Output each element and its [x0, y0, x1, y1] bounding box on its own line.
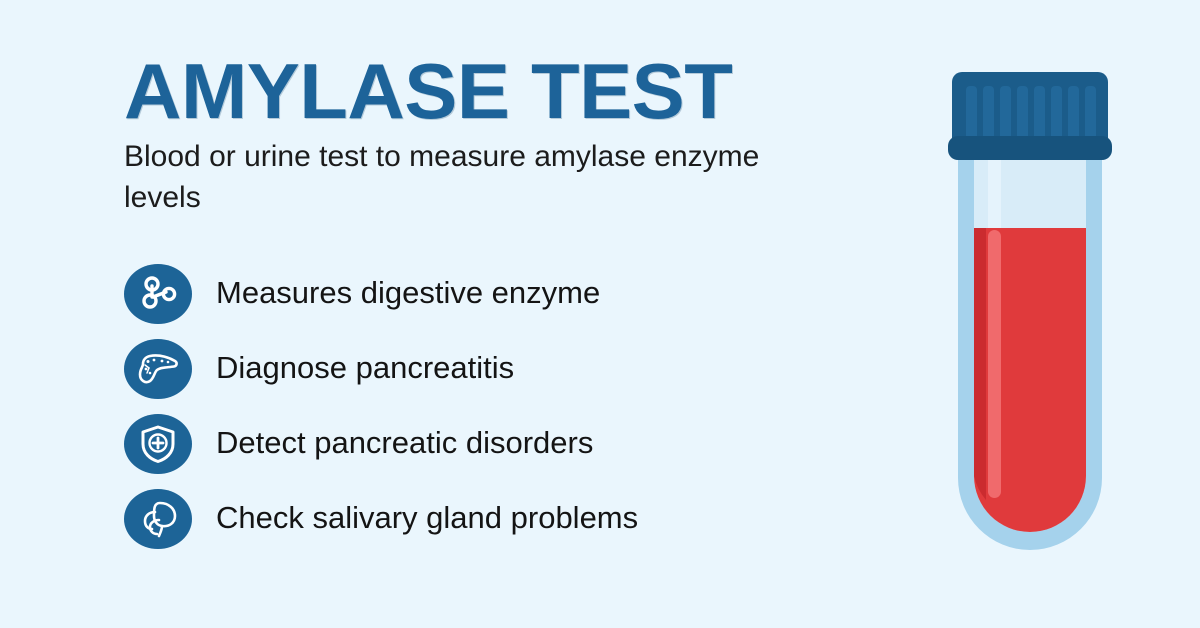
- list-item-label: Measures digestive enzyme: [216, 276, 600, 310]
- shield-plus-icon: [124, 414, 192, 474]
- infographic-poster: AMYLASE TEST Blood or urine test to meas…: [0, 0, 1200, 628]
- tube-blood-shadow: [974, 228, 986, 500]
- list-item: Diagnose pancreatitis: [124, 331, 884, 406]
- molecule-enzyme-icon: [124, 264, 192, 324]
- list-item: Check salivary gland problems: [124, 481, 884, 556]
- page-title: AMYLASE TEST: [124, 54, 920, 128]
- list-item-label: Diagnose pancreatitis: [216, 351, 514, 385]
- salivary-gland-icon: [124, 489, 192, 549]
- blood-test-tube-illustration: [930, 70, 1130, 570]
- page-subtitle: Blood or urine test to measure amylase e…: [124, 136, 764, 219]
- list-item: Measures digestive enzyme: [124, 256, 884, 331]
- list-item-label: Check salivary gland problems: [216, 501, 638, 535]
- tube-cap-collar: [948, 136, 1112, 160]
- list-item: Detect pancreatic disorders: [124, 406, 884, 481]
- feature-list: Measures digestive enzyme Diagnose pancr…: [124, 256, 884, 556]
- header-block: AMYLASE TEST Blood or urine test to meas…: [124, 54, 904, 219]
- tube-blood-highlight: [988, 230, 1001, 498]
- list-item-label: Detect pancreatic disorders: [216, 426, 593, 460]
- pancreas-icon: [124, 339, 192, 399]
